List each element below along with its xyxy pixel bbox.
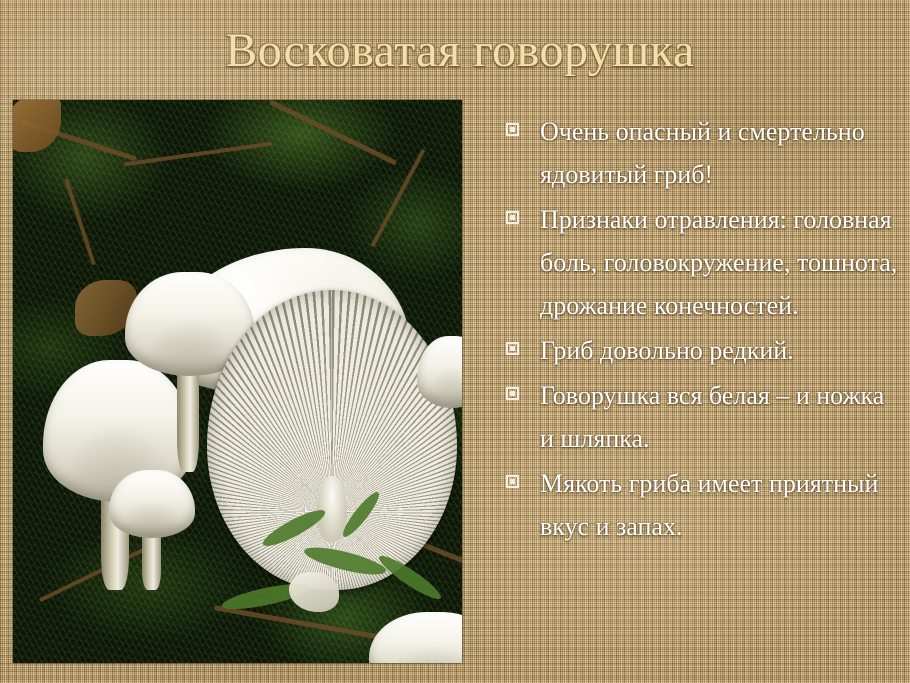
list-item-text: Говорушка вся белая – и ножка и шляпка.	[540, 381, 884, 453]
list-item: Мякоть гриба имеет приятный вкус и запах…	[500, 462, 900, 548]
square-dot-bullet-icon	[506, 211, 519, 224]
mushroom	[417, 336, 462, 426]
list-item-text: Мякоть гриба имеет приятный вкус и запах…	[540, 469, 878, 541]
square-dot-bullet-icon	[506, 123, 519, 136]
list-item: Признаки отравления: головная боль, голо…	[500, 198, 900, 327]
square-dot-bullet-icon	[506, 387, 519, 400]
presentation-slide: Восковатая говорушка	[0, 0, 910, 683]
dry-leaf	[13, 100, 61, 152]
list-item-text: Признаки отравления: головная боль, голо…	[540, 205, 897, 320]
list-item-text: Гриб довольно редкий.	[540, 336, 794, 365]
mushroom-photo	[13, 100, 462, 663]
slide-title: Восковатая говорушка	[150, 22, 770, 80]
twig	[269, 100, 397, 165]
forest-floor-scene	[13, 100, 462, 663]
list-item: Гриб довольно редкий.	[500, 329, 900, 372]
mushroom-fragment	[263, 600, 301, 630]
twig	[64, 179, 96, 266]
twig	[370, 148, 425, 247]
square-dot-bullet-icon	[506, 342, 519, 355]
square-dot-bullet-icon	[506, 475, 519, 488]
bullet-list: Очень опасный и смертельно ядовитый гриб…	[500, 110, 900, 550]
twig	[123, 142, 272, 167]
mushroom	[369, 612, 462, 663]
list-item-text: Очень опасный и смертельно ядовитый гриб…	[540, 117, 865, 189]
list-item: Очень опасный и смертельно ядовитый гриб…	[500, 110, 900, 196]
list-item: Говорушка вся белая – и ножка и шляпка.	[500, 374, 900, 460]
